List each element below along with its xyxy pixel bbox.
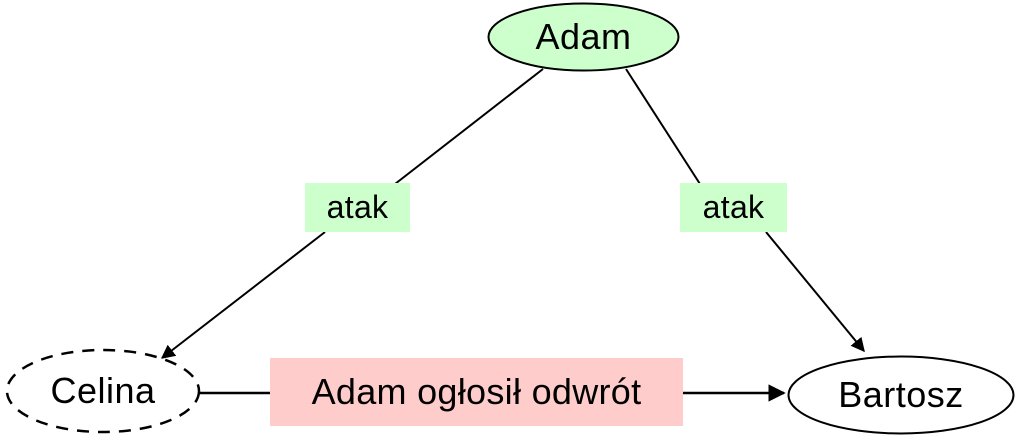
node-adam[interactable]: Adam [487, 2, 680, 72]
node-adam-label: Adam [535, 16, 631, 58]
node-bartosz[interactable]: Bartosz [787, 355, 1015, 435]
node-bartosz-label: Bartosz [838, 374, 964, 416]
edge-adam-bartosz-upper [626, 69, 700, 184]
edge-label-adam-bartosz-text: atak [703, 189, 765, 226]
node-celina-label: Celina [50, 370, 155, 412]
edge-label-adam-celina[interactable]: atak [305, 183, 410, 232]
node-celina[interactable]: Celina [5, 348, 201, 434]
edge-adam-celina-upper [395, 69, 543, 184]
edge-adam-bartosz-lower [766, 232, 864, 351]
edge-label-celina-bartosz-text: Adam ogłosił odwrót [312, 371, 642, 413]
diagram-canvas: Adam Celina Bartosz atak atak Adam ogłos… [0, 0, 1024, 436]
edge-adam-celina-lower [162, 232, 325, 358]
edge-label-celina-bartosz[interactable]: Adam ogłosił odwrót [270, 358, 683, 426]
edge-label-adam-celina-text: atak [327, 189, 389, 226]
edge-label-adam-bartosz[interactable]: atak [680, 183, 787, 232]
